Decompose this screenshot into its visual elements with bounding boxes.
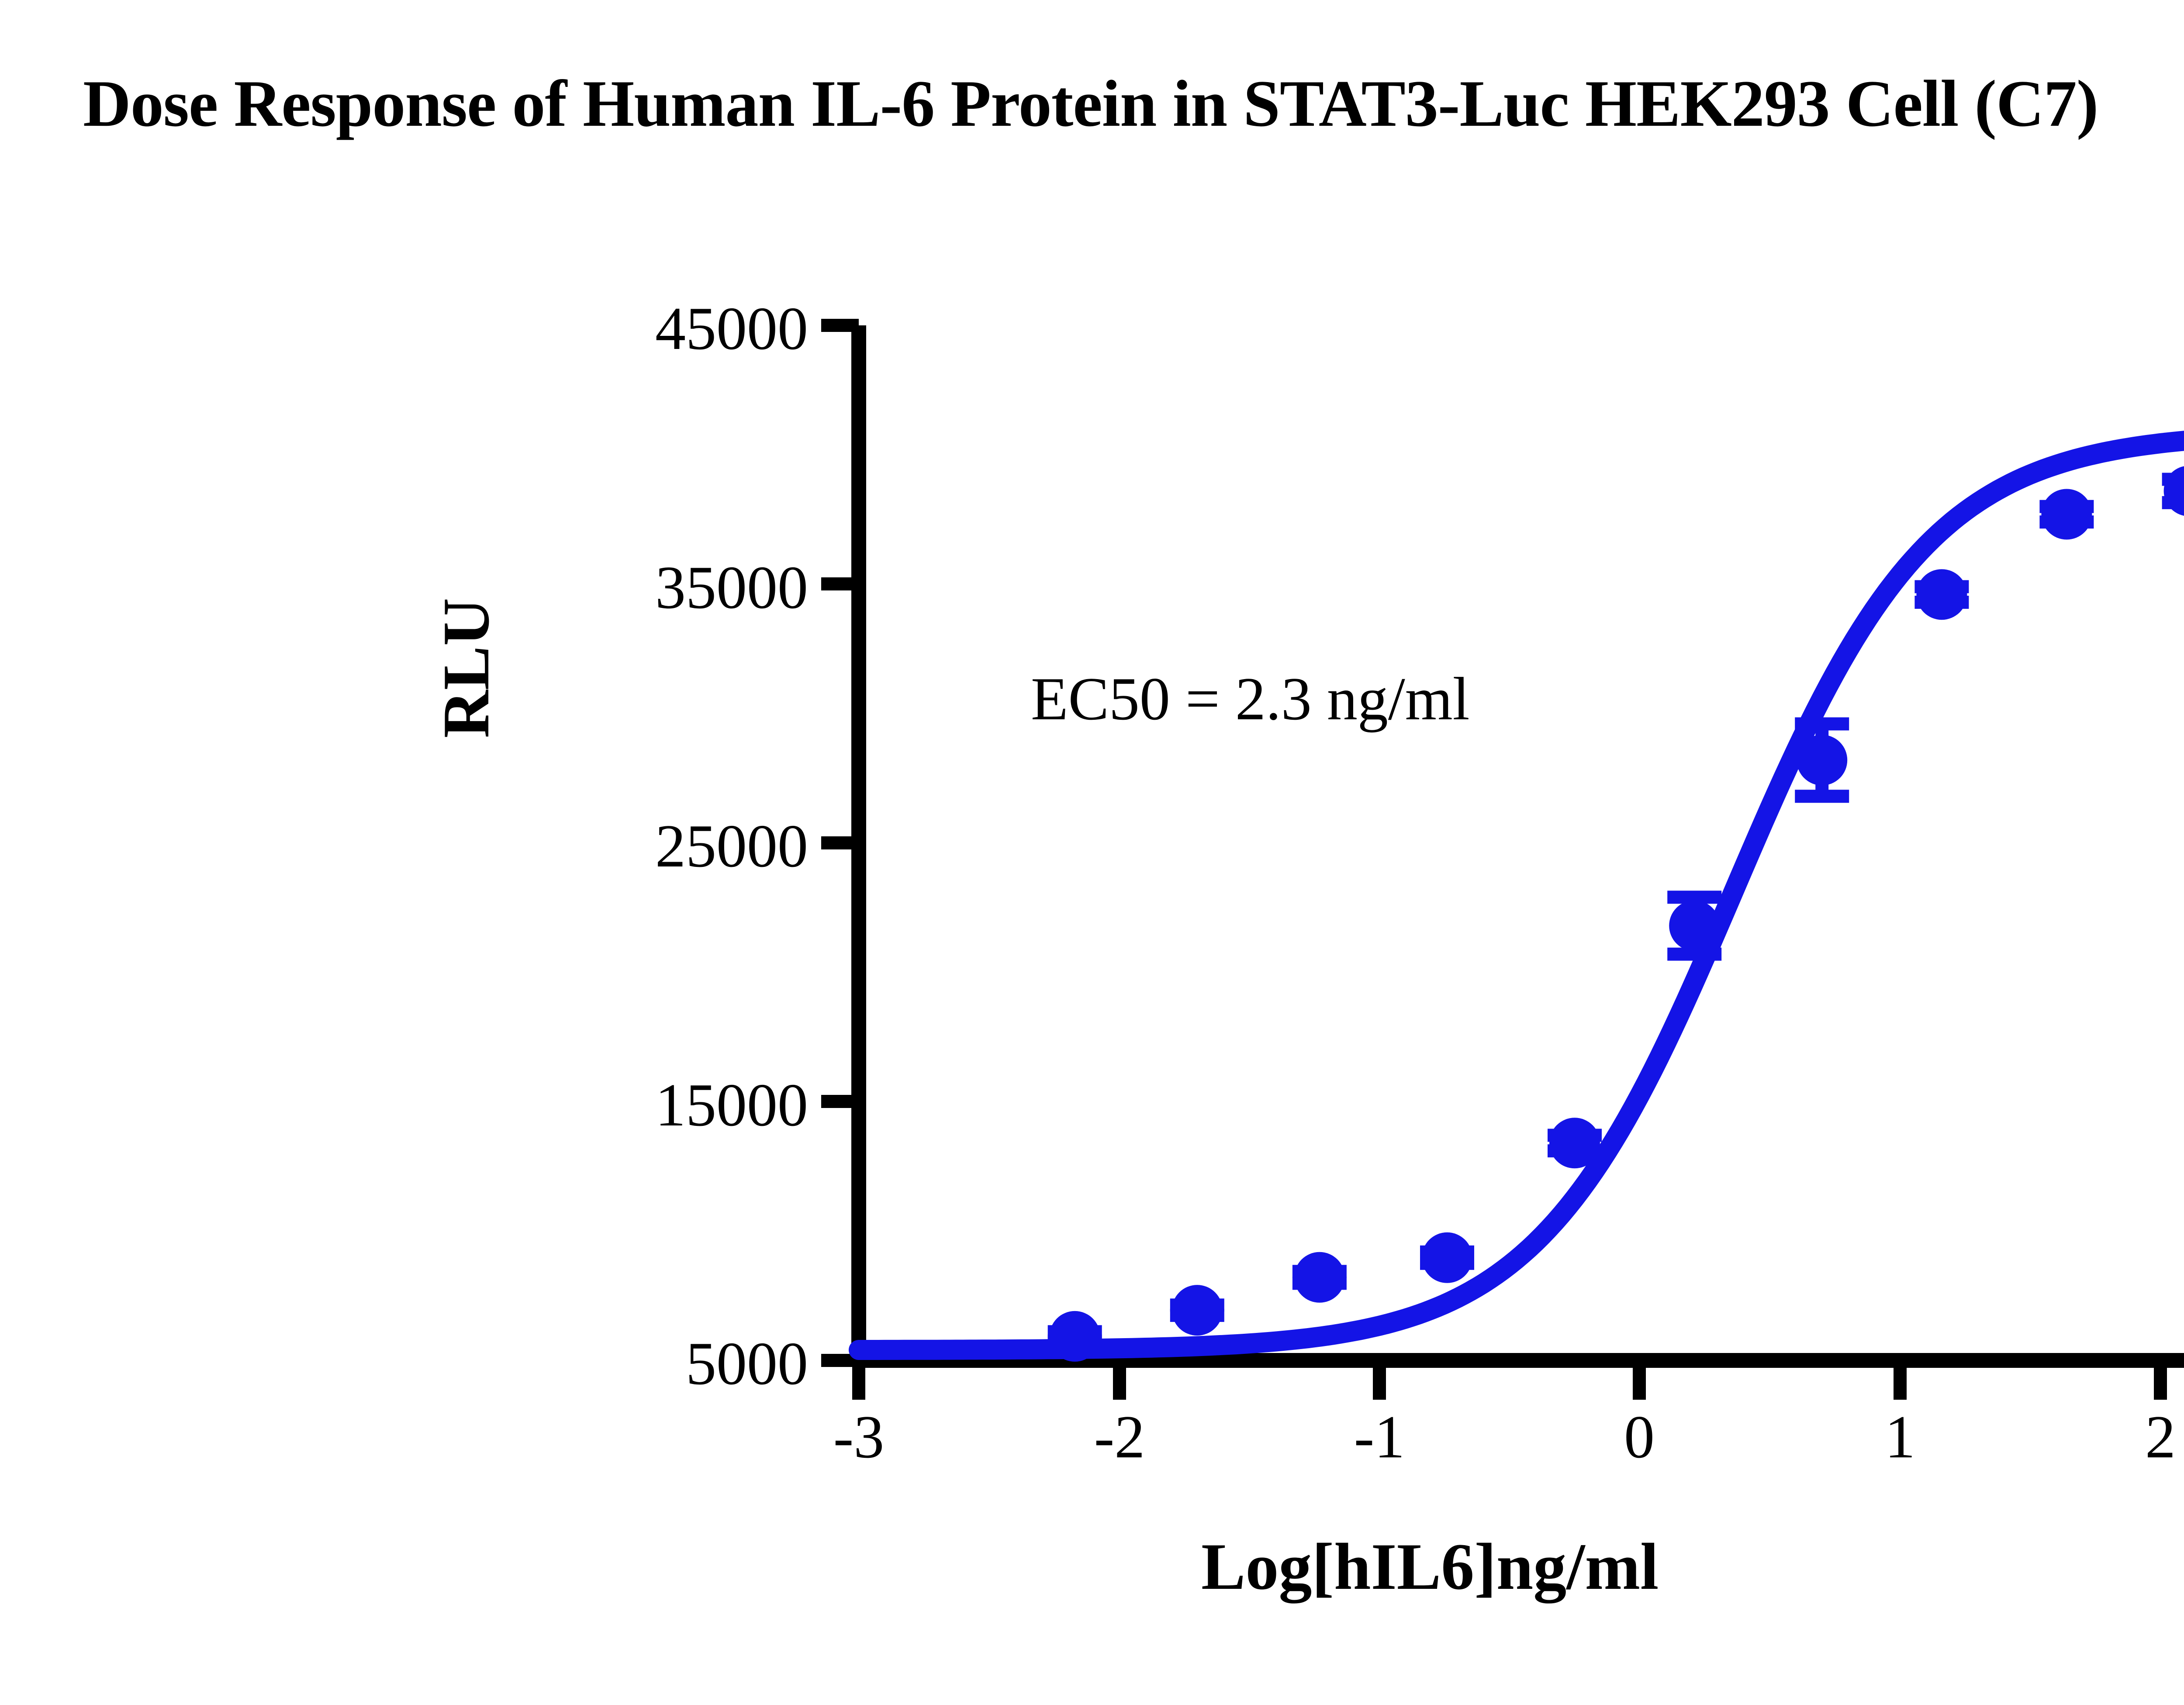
data-point-marker <box>1669 901 1720 951</box>
data-point-marker <box>1294 1252 1345 1303</box>
data-point-markers <box>1050 386 2184 1362</box>
data-point-marker <box>1797 735 1847 785</box>
data-point-marker <box>1172 1285 1223 1336</box>
data-point-marker <box>1549 1118 1600 1168</box>
data-series-layer <box>859 351 2184 1362</box>
axis-layer <box>821 325 2184 1400</box>
chart-canvas: Dose Response of Human IL-6 Protein in S… <box>0 0 2184 1705</box>
plot-svg <box>0 0 2184 1705</box>
error-bars <box>1048 351 2184 1341</box>
data-point-marker <box>1422 1232 1472 1283</box>
data-point-marker <box>2041 489 2092 540</box>
fit-curve-line <box>859 432 2184 1350</box>
data-point-marker <box>1916 569 1967 620</box>
data-point-marker <box>1050 1311 1100 1362</box>
plot-area: 45000 35000 25000 15000 5000 -3 -2 -1 0 … <box>0 0 2184 1705</box>
